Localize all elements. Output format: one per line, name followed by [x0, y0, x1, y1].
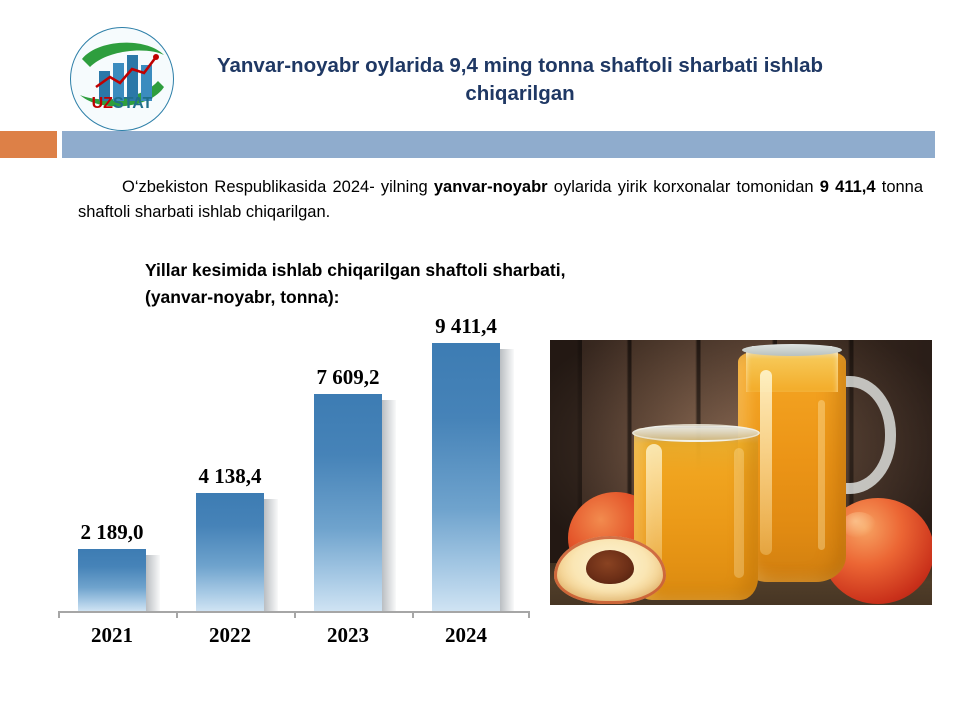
intro-paragraph: O‘zbekiston Respublikasida 2024- yilning…	[78, 175, 923, 225]
bar-shadow	[500, 349, 514, 611]
intro-bold-value: 9 411,4	[820, 178, 876, 196]
category-label-2023: 2023	[288, 623, 408, 648]
accent-bar-blue	[62, 131, 935, 158]
chart-subtitle-line1: Yillar kesimida ishlab chiqarilgan shaft…	[145, 257, 745, 284]
bar-value-label: 4 138,4	[170, 464, 290, 489]
category-label-2022: 2022	[170, 623, 290, 648]
intro-text-1: O‘zbekiston Respublikasida 2024- yilning	[122, 178, 434, 196]
bar-shadow	[382, 400, 396, 611]
photo-pitcher-highlight-2	[818, 400, 825, 550]
bar-shadow	[264, 499, 278, 611]
axis-tick-3	[412, 611, 414, 618]
bar-shadow	[146, 555, 160, 611]
uzstat-logo: UZSTAT	[68, 25, 178, 133]
bar-chart: 2 189,04 138,47 609,29 411,4 20212022202…	[50, 315, 535, 650]
logo-graphic	[68, 25, 176, 133]
page-title: Yanvar-noyabr oylarida 9,4 ming tonna sh…	[190, 52, 850, 108]
bar-2024	[432, 343, 500, 611]
photo-pitcher-rim	[742, 344, 842, 356]
bar-value-label: 9 411,4	[406, 314, 526, 339]
photo-glass-rim	[632, 424, 760, 442]
bar-value-label: 2 189,0	[52, 520, 172, 545]
page-header: UZSTAT Yanvar-noyabr oylarida 9,4 ming t…	[0, 0, 960, 125]
photo-pitcher-highlight	[760, 370, 772, 555]
photo-glass-highlight-2	[734, 448, 744, 578]
peach-juice-photo	[550, 340, 932, 605]
chart-subtitle-line2: (yanvar-noyabr, tonna):	[145, 284, 745, 311]
category-label-2024: 2024	[406, 623, 526, 648]
axis-tick-1	[176, 611, 178, 618]
logo-wordmark-uz: UZ	[92, 95, 113, 112]
bar-2022	[196, 493, 264, 611]
x-axis-line	[58, 611, 528, 613]
photo-peach-highlight	[842, 512, 876, 538]
logo-wordmark: UZSTAT	[68, 95, 176, 113]
logo-wordmark-stat: STAT	[113, 95, 152, 112]
bar-2021	[78, 549, 146, 611]
intro-bold-period: yanvar-noyabr	[434, 178, 548, 196]
chart-subtitle: Yillar kesimida ishlab chiqarilgan shaft…	[145, 257, 745, 311]
category-label-2021: 2021	[52, 623, 172, 648]
photo-peach-pit	[586, 550, 634, 584]
bar-value-label: 7 609,2	[288, 365, 408, 390]
axis-tick-4	[528, 611, 530, 618]
accent-bar-orange	[0, 131, 57, 158]
bar-2023	[314, 394, 382, 611]
axis-tick-2	[294, 611, 296, 618]
page-footer	[0, 655, 960, 720]
intro-text-2: oylarida yirik korxonalar tomonidan	[548, 178, 820, 196]
axis-tick-0	[58, 611, 60, 618]
